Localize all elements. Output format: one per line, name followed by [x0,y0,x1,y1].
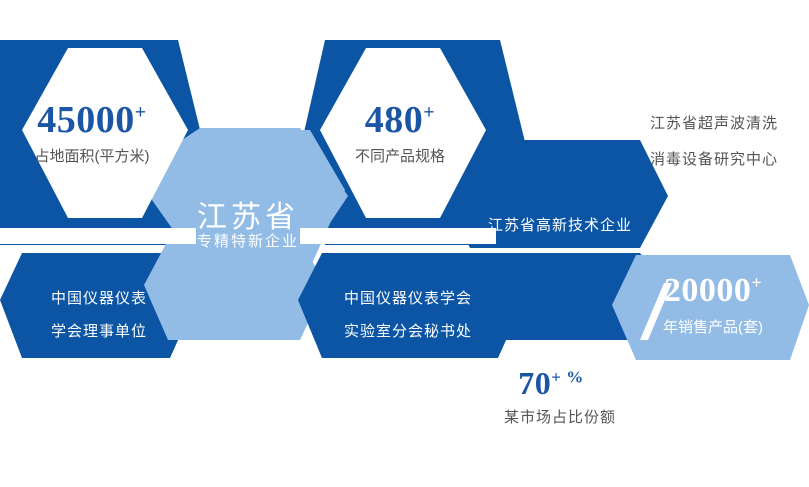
badge-council-member-line1: 中国仪器仪表 [51,287,147,308]
stat-market-share-value-group: 70+ % [518,365,583,402]
badge-lab-secretariat-line1: 中国仪器仪表学会 [344,287,472,308]
badge-research-center-line2: 消毒设备研究中心 [650,148,778,169]
badge-lab-secretariat-line2: 实验室分会秘书处 [344,320,472,341]
badge-council-member-line2: 学会理事单位 [51,320,147,341]
stat-market-share-label: 某市场占比份额 [504,406,616,427]
stat-annual-sales-suffix: + [751,273,762,293]
stat-market-share-suffix: + % [551,367,583,386]
stat-annual-sales-value-group: 20000+ [664,272,762,310]
stat-land-area-value-group: 45000+ [37,98,146,142]
stat-product-specs-suffix: + [423,101,435,123]
shape-separator-strip-left [0,228,196,244]
shapes-layer [0,0,809,487]
stat-annual-sales-value: 20000 [664,272,752,309]
badge-research-center-line1: 江苏省超声波清洗 [650,112,778,133]
stat-annual-sales-label: 年销售产品(套) [663,316,763,337]
badge-high-tech-enterprise-label: 江苏省高新技术企业 [488,214,632,235]
stat-product-specs-value: 480 [365,99,424,141]
shape-separator-strip-middle [300,228,496,244]
stat-land-area-suffix: + [135,101,147,123]
stat-land-area-value: 45000 [37,99,135,141]
center-hexagon-subtitle: 专精特新企业 [197,230,299,251]
stat-market-share-value: 70 [518,365,551,401]
stat-product-specs-value-group: 480+ [365,98,435,142]
shape-bottom-center-light-hexagon [144,240,326,340]
stat-product-specs-label: 不同产品规格 [355,145,445,166]
stat-land-area-label: 占地面积(平方米) [35,145,150,166]
infographic-canvas: 45000+ 占地面积(平方米) 480+ 不同产品规格 江苏省 专精特新企业 … [0,0,809,487]
